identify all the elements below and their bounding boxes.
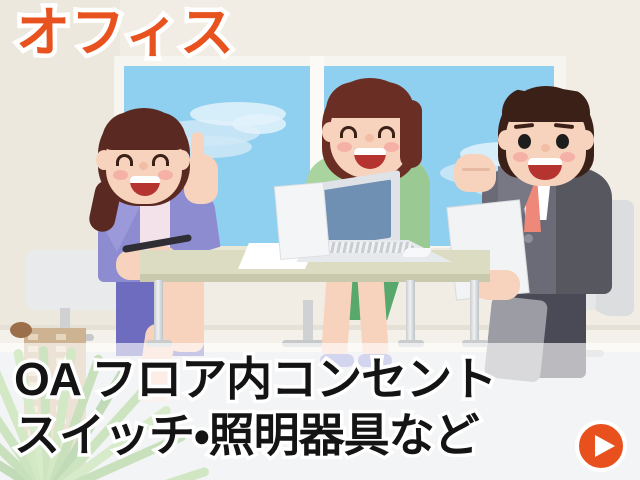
man-right-fist-line: [462, 168, 490, 171]
man-right-jacket-shade: [556, 170, 612, 294]
man-right-eye: [556, 134, 569, 149]
man-right-fist: [454, 154, 496, 192]
document: [275, 183, 329, 259]
caption-line-2: スイッチ・照明器具など: [14, 412, 479, 458]
woman-left-cheek: [113, 170, 128, 180]
kicker-text: オフィス: [16, 6, 235, 60]
play-triangle-icon: [595, 435, 615, 457]
woman-left-eye: [152, 154, 169, 166]
woman-left-bangs: [102, 112, 186, 150]
man-right-button: [524, 234, 533, 243]
woman-center-cheek: [337, 142, 352, 152]
woman-left-eye: [116, 154, 133, 166]
caption-line-1: OA フロア内コンセント: [14, 356, 496, 402]
man-right-nose: [541, 144, 550, 152]
woman-left-cheek: [158, 170, 173, 180]
table-leg: [470, 280, 479, 342]
man-right: [452, 92, 640, 342]
teeth: [130, 176, 160, 183]
table-leg: [154, 280, 163, 342]
man-right-eye: [518, 134, 531, 149]
woman-center-eye: [378, 126, 395, 138]
man-right-cheek: [560, 152, 575, 162]
play-button[interactable]: [575, 420, 627, 472]
laptop-trackpad: [402, 248, 433, 257]
woman-center-nose: [365, 134, 374, 142]
woman-center-eye: [340, 126, 357, 138]
plant-soil: [10, 322, 32, 338]
table-leg: [406, 280, 415, 342]
meeting-table-edge: [140, 274, 490, 282]
teeth: [528, 158, 562, 165]
woman-left-nose: [139, 162, 148, 170]
woman-center-cheek: [384, 142, 399, 152]
teeth: [354, 148, 386, 155]
man-right-cheek: [513, 152, 528, 162]
banner-image: オフィス OA フロア内コンセント スイッチ・照明器具など: [0, 0, 640, 480]
woman-left-index-finger: [191, 132, 204, 166]
woman-center-side-hair: [400, 100, 422, 168]
